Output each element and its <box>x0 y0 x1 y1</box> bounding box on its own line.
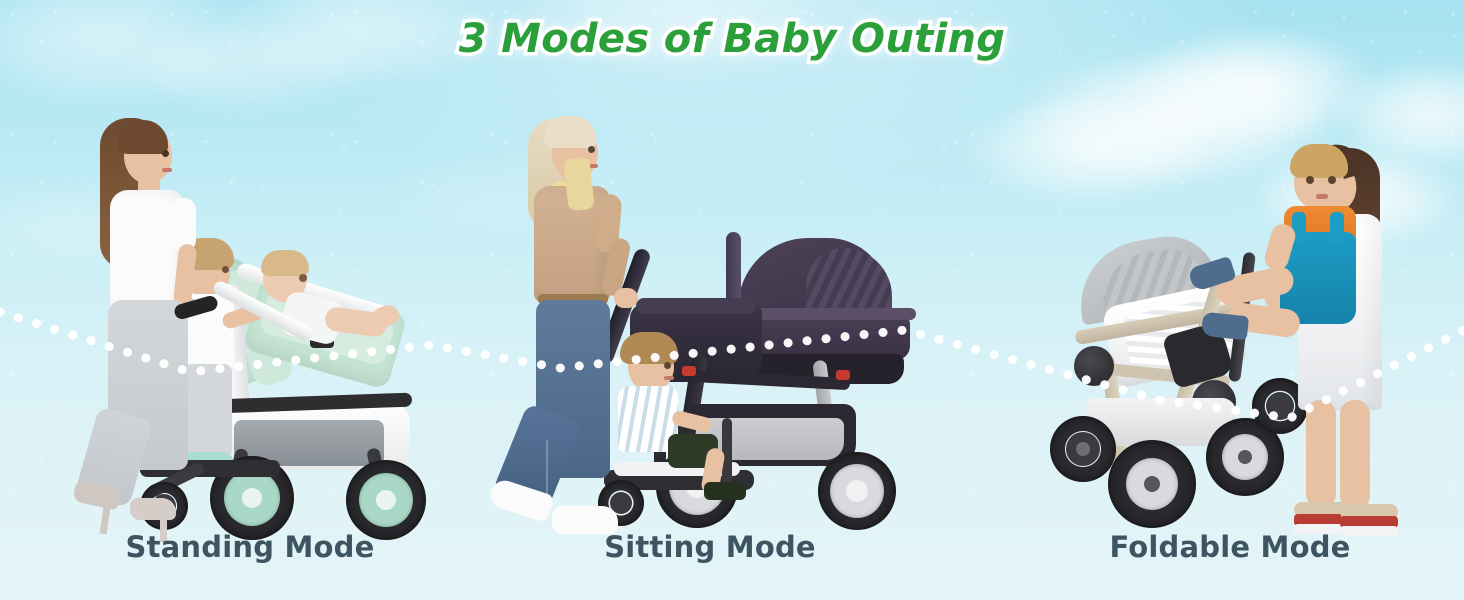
scene-foldable-mode <box>1030 108 1430 538</box>
stroller-wheel <box>1108 440 1196 528</box>
stroller-wheel <box>346 460 426 540</box>
panel-foldable-mode: Foldable Mode <box>1030 0 1430 600</box>
stroller-handle <box>174 286 314 356</box>
panel-standing-mode: Standing Mode <box>70 0 430 600</box>
stroller-wheel <box>818 452 896 530</box>
banner-title: 3 Modes of Baby Outing <box>0 16 1464 62</box>
caption-sitting-mode: Sitting Mode <box>500 530 920 564</box>
caption-foldable-mode: Foldable Mode <box>1030 530 1430 564</box>
adult-woman <box>506 110 666 540</box>
panel-sitting-mode: Sitting Mode <box>500 0 920 600</box>
stroller-wheel <box>1050 416 1116 482</box>
scene-standing-mode <box>70 108 430 538</box>
promo-banner: Standing Mode <box>0 0 1464 600</box>
toddler-held <box>1262 128 1402 358</box>
scene-sitting-mode <box>500 108 920 538</box>
caption-standing-mode: Standing Mode <box>70 530 430 564</box>
